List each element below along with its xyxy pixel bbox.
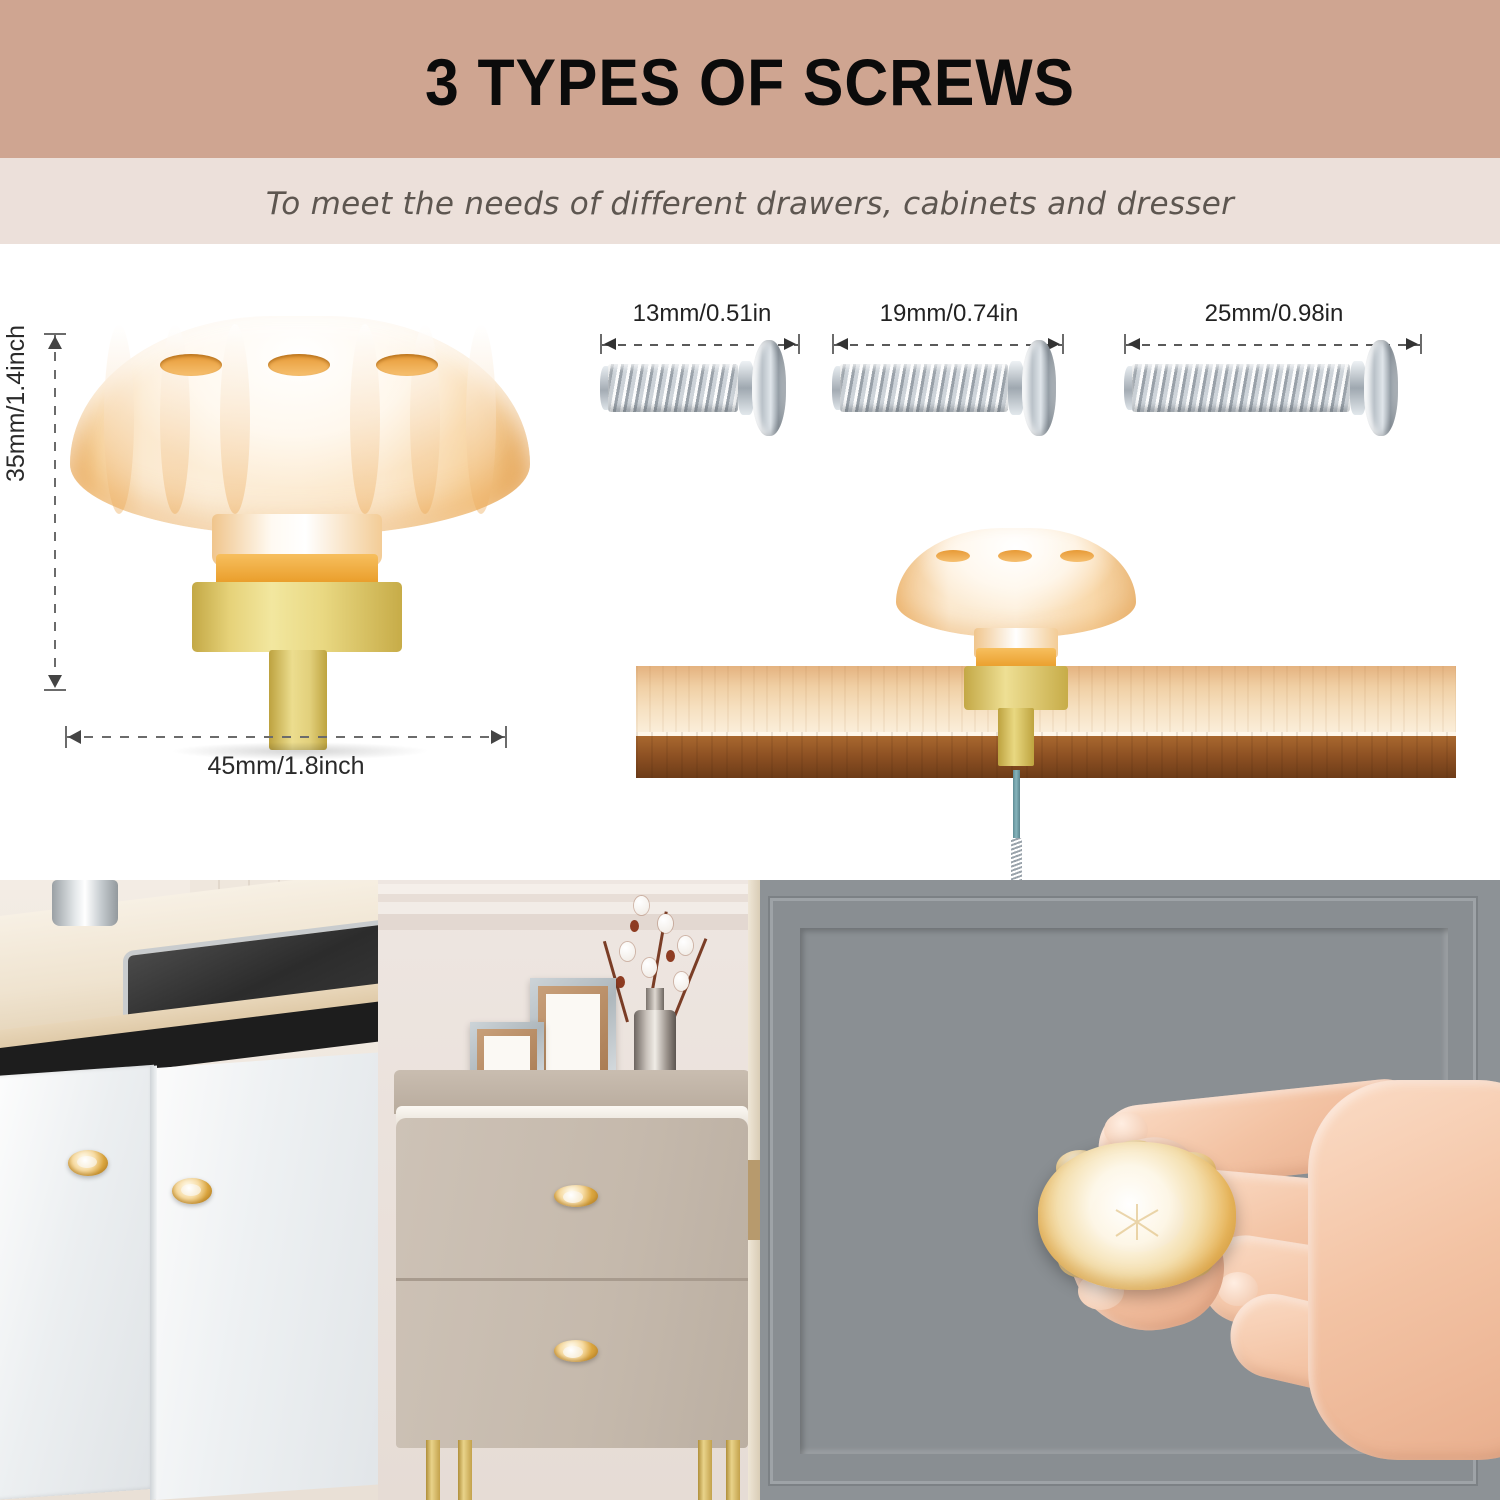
dimension-cap xyxy=(44,689,66,691)
arrow-left-icon xyxy=(836,338,848,350)
cabinet-door-left[interactable] xyxy=(0,1065,154,1500)
dimension-cap xyxy=(1420,334,1422,354)
knob-top-holes xyxy=(160,354,440,378)
knob-hole xyxy=(1060,550,1094,562)
lifestyle-photo-strip xyxy=(0,880,1500,1500)
knob-hole xyxy=(936,550,970,562)
knob-flute xyxy=(104,324,134,514)
nightstand-leg xyxy=(426,1440,440,1500)
cotton-puff xyxy=(678,936,693,955)
nightstand-leg xyxy=(458,1440,472,1500)
knob-hole xyxy=(998,550,1032,562)
arrow-right-icon xyxy=(491,730,504,744)
dimension-cap xyxy=(44,333,66,335)
knob-glass-dome xyxy=(70,316,530,536)
knob-flute xyxy=(220,324,250,514)
knob-flute xyxy=(160,324,190,514)
cotton-puff xyxy=(634,896,649,915)
knob-flute xyxy=(350,324,380,514)
screw-head xyxy=(1022,340,1056,436)
screw-dimension-line xyxy=(834,344,1062,346)
product-infographic: 3 TYPES OF SCREWS To meet the needs of d… xyxy=(0,0,1500,1500)
knob-hole xyxy=(160,354,222,376)
knob-brass-post xyxy=(269,650,327,750)
mounted-knob-post xyxy=(998,708,1034,766)
installed-knob[interactable] xyxy=(554,1340,598,1362)
photo-kitchen-cabinets xyxy=(0,880,378,1500)
screw-shaft xyxy=(1132,364,1350,412)
kitchen-canister xyxy=(52,880,118,926)
knob-illustration xyxy=(60,306,540,726)
arrow-left-icon xyxy=(1128,338,1140,350)
dimension-cap xyxy=(600,334,602,354)
knob-hole xyxy=(268,354,330,376)
cotton-puff xyxy=(658,914,673,933)
installation-diagram xyxy=(636,520,1456,820)
photo-hand-holding-knob xyxy=(748,880,1500,1500)
knob-brass-base xyxy=(192,582,402,652)
dimension-cap xyxy=(1124,334,1126,354)
screw-length-label: 19mm/0.74in xyxy=(824,300,1074,328)
dimension-cap xyxy=(505,726,507,748)
arrow-up-icon xyxy=(48,336,62,349)
dimension-cap xyxy=(1062,334,1064,354)
mounted-knob-dome xyxy=(896,528,1136,638)
knob-hole xyxy=(376,354,438,376)
screw-head xyxy=(752,340,786,436)
screw-item-19mm: 19mm/0.74in xyxy=(824,300,1074,480)
cotton-pod xyxy=(666,950,675,962)
nightstand-leg xyxy=(698,1440,712,1500)
nightstand-body xyxy=(396,1118,748,1448)
dimension-cap xyxy=(65,726,67,748)
height-dimension-line xyxy=(54,334,56,690)
mounting-screw-shaft xyxy=(1013,770,1020,842)
knob-height-label: 35mm/1.4inch xyxy=(2,325,31,482)
adjacent-cabinet-shadow xyxy=(748,1160,760,1240)
spec-section: 35mm/1.4inch 45mm/1.8inch 13mm/0.51in 19… xyxy=(0,244,1500,880)
page-subtitle: To meet the needs of different drawers, … xyxy=(0,186,1500,222)
installed-knob[interactable] xyxy=(554,1185,598,1207)
knob-width-label: 45mm/1.8inch xyxy=(66,752,506,781)
screw-item-13mm: 13mm/0.51in xyxy=(592,300,812,480)
knob-flute xyxy=(410,324,440,514)
arrow-down-icon xyxy=(48,675,62,688)
crown-molding xyxy=(378,884,748,930)
screw-length-label: 13mm/0.51in xyxy=(592,300,812,328)
screw-length-label: 25mm/0.98in xyxy=(1116,300,1432,328)
cotton-pod xyxy=(630,920,639,932)
cotton-pod xyxy=(616,976,625,988)
drawer-divider xyxy=(396,1278,748,1281)
cotton-puff xyxy=(642,958,657,977)
cotton-puff xyxy=(674,972,689,991)
screw-head xyxy=(1364,340,1398,436)
knob-facet-star-icon xyxy=(1108,1202,1166,1242)
dimension-cap xyxy=(798,334,800,354)
mounted-knob-brass-base xyxy=(964,666,1068,710)
screw-shaft xyxy=(840,364,1008,412)
arrow-right-icon xyxy=(1406,338,1418,350)
arrow-left-icon xyxy=(604,338,616,350)
cabinet-door-right[interactable] xyxy=(156,1052,378,1500)
dimension-cap xyxy=(832,334,834,354)
palm xyxy=(1308,1080,1500,1460)
screw-shaft xyxy=(608,364,738,412)
cabinet-door-seam xyxy=(150,1066,157,1500)
page-title: 3 TYPES OF SCREWS xyxy=(60,44,1440,120)
nightstand-leg xyxy=(726,1440,740,1500)
photo-nightstand xyxy=(378,880,748,1500)
held-knob[interactable] xyxy=(1038,1142,1236,1290)
installed-knob[interactable] xyxy=(172,1178,212,1204)
arrow-right-icon xyxy=(784,338,796,350)
width-dimension-line xyxy=(66,736,506,738)
arrow-left-icon xyxy=(68,730,81,744)
wood-grain xyxy=(636,732,1456,778)
installed-knob[interactable] xyxy=(68,1150,108,1176)
screw-item-25mm: 25mm/0.98in xyxy=(1116,300,1432,480)
knob-flute xyxy=(466,324,496,514)
cotton-puff xyxy=(620,942,635,961)
